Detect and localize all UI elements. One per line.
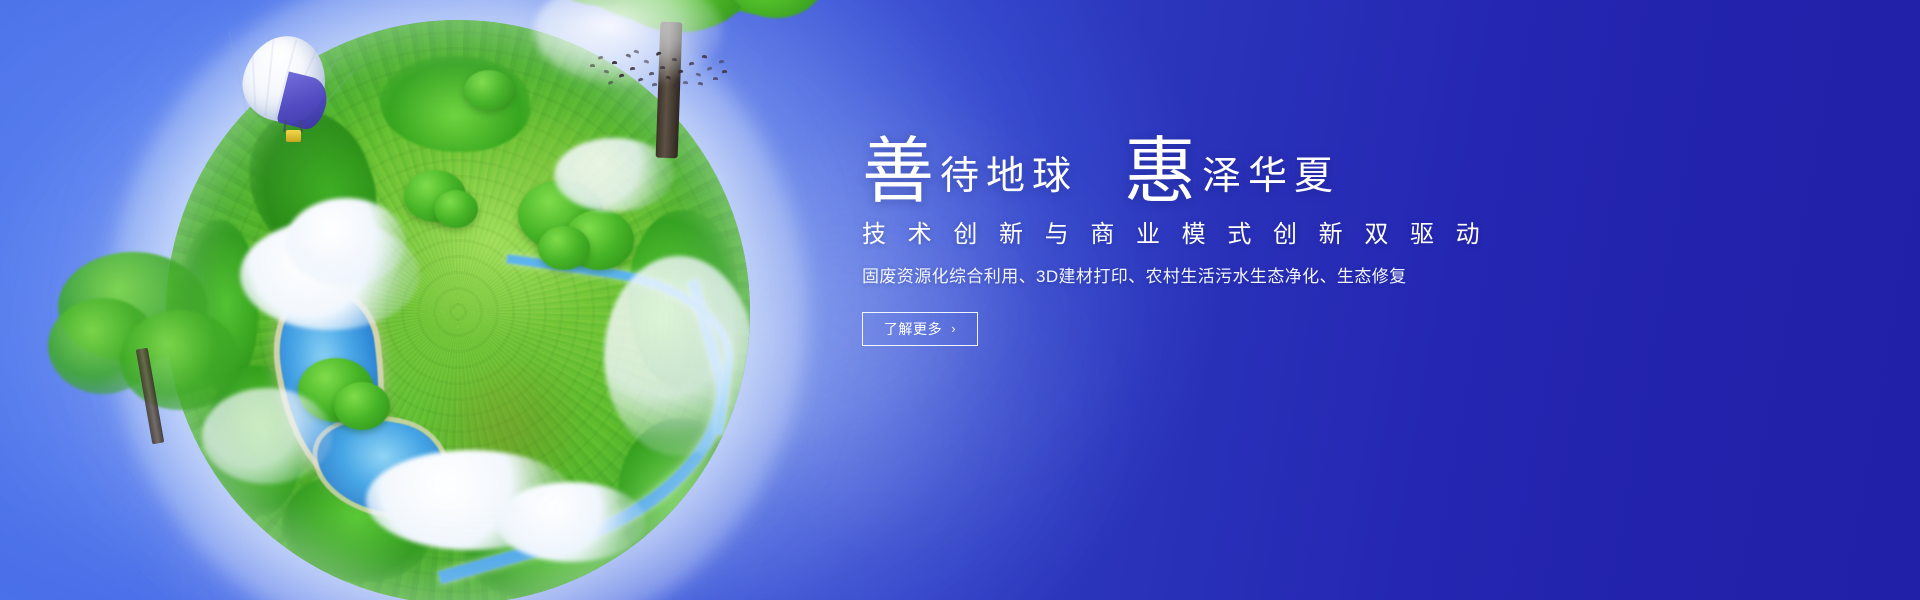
bird-icon (674, 84, 679, 87)
hero-copy: 善 待地球 惠 泽华夏 技 术 创 新 与 商 业 模 式 创 新 双 驱 动 … (862, 132, 1562, 346)
bird-icon (713, 77, 718, 80)
bird-icon (630, 67, 635, 71)
hero-banner: 善 待地球 惠 泽华夏 技 术 创 新 与 商 业 模 式 创 新 双 驱 动 … (0, 0, 1920, 600)
bird-icon (719, 60, 724, 64)
bird-icon (598, 55, 604, 59)
bird-icon (696, 72, 702, 77)
bird-icon (590, 64, 595, 67)
page-title: 善 待地球 惠 泽华夏 (862, 132, 1562, 206)
bush-icon (464, 70, 514, 110)
headline-text-zehuaxia: 泽华夏 (1202, 157, 1340, 196)
headline-char-shan: 善 (862, 136, 934, 208)
bird-icon (722, 70, 727, 74)
bird-icon (604, 69, 610, 73)
bird-icon (672, 58, 677, 62)
bird-icon (638, 77, 644, 82)
forest-tuft (380, 56, 530, 152)
bird-icon (683, 81, 688, 84)
learn-more-label: 了解更多 (884, 319, 942, 339)
bird-icon (656, 51, 662, 56)
bush-icon (434, 190, 478, 228)
hero-subtitle: 技 术 创 新 与 商 业 模 式 创 新 双 驱 动 (862, 220, 1562, 250)
balloon-rib (250, 32, 256, 114)
headline-text-daidiqiu: 待地球 (940, 157, 1078, 196)
headline-char-hui: 惠 (1124, 136, 1196, 208)
bird-icon (612, 61, 617, 64)
bird-icon (644, 59, 650, 63)
bird-icon (666, 75, 672, 79)
cloud-icon (496, 482, 646, 562)
hot-air-balloon-icon (238, 36, 334, 148)
bush-icon (538, 226, 590, 270)
cloud-icon (604, 256, 750, 456)
bird-icon (702, 55, 707, 59)
hero-description: 固废资源化综合利用、3D建材打印、农村生活污水生态净化、生态修复 (862, 266, 1562, 289)
bird-icon (660, 66, 665, 69)
bird-icon (608, 80, 614, 85)
balloon-basket (286, 130, 301, 142)
bird-icon (634, 49, 640, 53)
bird-flock-icon (586, 48, 726, 96)
cloud-icon (286, 198, 406, 286)
bird-icon (678, 69, 684, 73)
bird-icon (707, 66, 713, 71)
chevron-right-icon: › (951, 322, 956, 335)
bird-icon (689, 62, 695, 66)
bird-icon (652, 83, 657, 87)
bird-icon (626, 53, 632, 58)
bird-icon (619, 73, 625, 77)
learn-more-button[interactable]: 了解更多 › (862, 312, 978, 346)
bird-icon (698, 82, 703, 86)
balloon-rib (264, 35, 275, 117)
bush-icon (334, 382, 390, 430)
bird-icon (649, 72, 655, 76)
tree-icon (48, 252, 248, 452)
